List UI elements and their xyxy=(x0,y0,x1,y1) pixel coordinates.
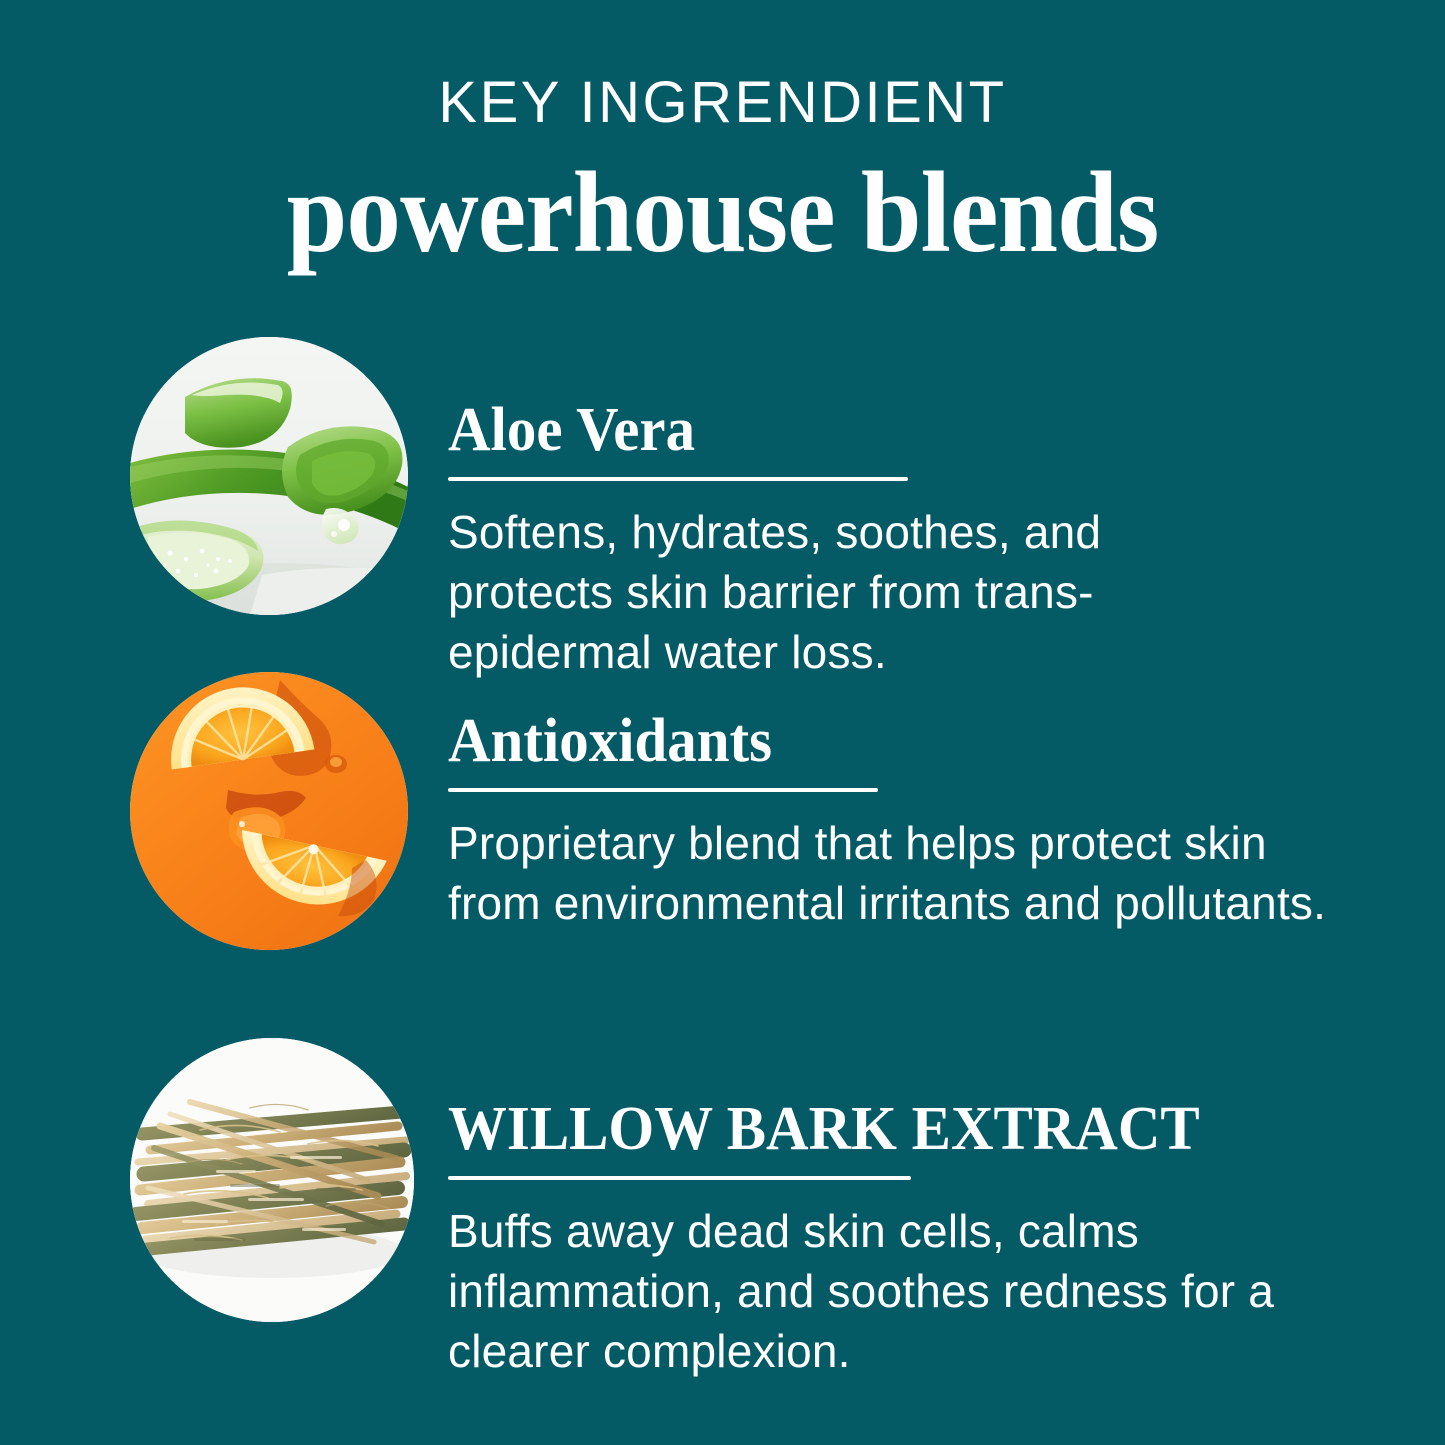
ingredient-content-willow-bark: WILLOW BARK EXTRACT Buffs away dead skin… xyxy=(448,1098,1328,1381)
ingredient-title: Aloe Vera xyxy=(448,399,1284,461)
title-divider xyxy=(448,1176,911,1180)
ingredient-description: Buffs away dead skin cells, calms inflam… xyxy=(448,1202,1338,1381)
title-divider xyxy=(448,788,878,792)
ingredient-title: Antioxidants xyxy=(448,710,1284,772)
ingredient-title: WILLOW BARK EXTRACT xyxy=(448,1098,1284,1160)
aloe-vera-photo xyxy=(130,337,408,615)
willow-bark-photo xyxy=(130,1038,414,1322)
header: KEY INGRENDIENT powerhouse blends xyxy=(0,0,1445,272)
ingredient-content-aloe-vera: Aloe Vera Softens, hydrates, soothes, an… xyxy=(448,399,1328,682)
eyebrow-label: KEY INGRENDIENT xyxy=(0,74,1445,132)
ingredient-content-antioxidants: Antioxidants Proprietary blend that help… xyxy=(448,710,1328,934)
ingredient-infographic: KEY INGRENDIENT powerhouse blends xyxy=(0,0,1445,1445)
title-divider xyxy=(448,477,908,481)
page-title: powerhouse blends xyxy=(43,154,1401,272)
antioxidants-photo xyxy=(130,672,408,950)
ingredient-description: Proprietary blend that helps protect ski… xyxy=(448,814,1328,934)
ingredient-description: Softens, hydrates, soothes, and protects… xyxy=(448,503,1208,682)
